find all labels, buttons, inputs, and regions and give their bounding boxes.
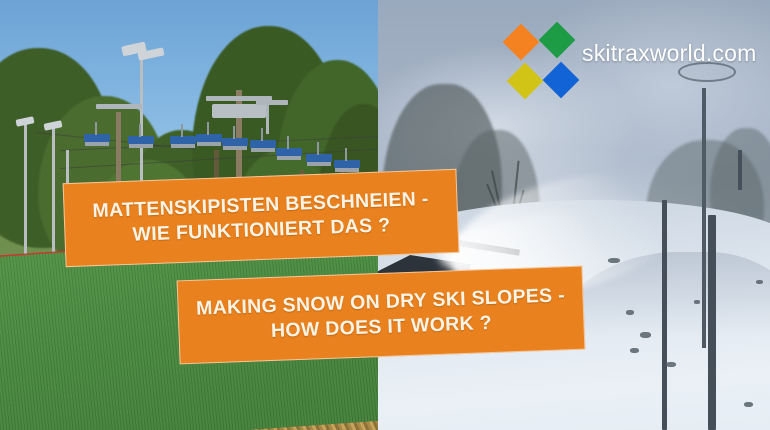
chairlift-chair xyxy=(306,154,332,162)
snow-debris xyxy=(640,332,651,338)
image-canvas: skitraxworld.com MATTENSKIPISTEN BESCHNE… xyxy=(0,0,770,430)
lift-pylon xyxy=(266,104,269,134)
chairlift-chair xyxy=(276,148,302,156)
chairlift-chair xyxy=(170,136,196,144)
diamond-orange-icon xyxy=(503,24,540,61)
chairlift-chair xyxy=(196,134,222,142)
chairlift-chair xyxy=(250,140,276,148)
chairlift-chair xyxy=(84,134,110,142)
floodlight-mast xyxy=(702,88,706,348)
caption-banner-english: MAKING SNOW ON DRY SKI SLOPES - HOW DOES… xyxy=(177,266,586,365)
chairlift-chair xyxy=(128,136,154,144)
snow-debris xyxy=(630,348,639,353)
snow-debris xyxy=(694,300,700,304)
caption-banner-german: MATTENSKIPISTEN BESCHNEIEN - WIE FUNKTIO… xyxy=(63,169,460,267)
pylon-crossarm xyxy=(96,104,142,109)
chairlift-chair xyxy=(222,138,248,146)
chairlift-chair xyxy=(334,160,360,168)
diamond-green-icon xyxy=(539,22,576,59)
snow-debris xyxy=(756,280,763,284)
lift-pole xyxy=(708,215,716,430)
diamond-blue-icon xyxy=(543,62,580,99)
site-watermark-logo[interactable]: skitraxworld.com xyxy=(500,18,760,100)
pylon-sheave-train xyxy=(212,104,266,118)
snow-debris xyxy=(744,402,753,407)
snow-debris xyxy=(666,362,676,367)
diamond-yellow-icon xyxy=(507,63,544,100)
lift-pole xyxy=(738,150,742,190)
snow-debris xyxy=(626,310,634,315)
site-name-text: skitraxworld.com xyxy=(582,40,756,67)
snow-debris xyxy=(608,258,620,263)
pylon-crossarm xyxy=(256,100,288,105)
